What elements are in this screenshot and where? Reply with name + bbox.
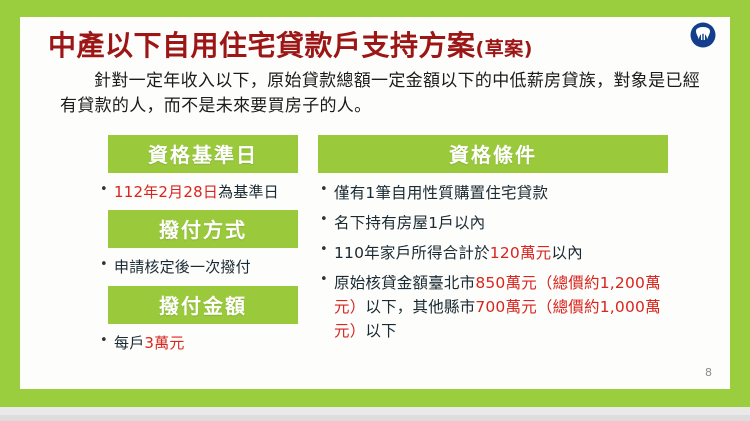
section-header: 撥付金額 xyxy=(108,286,298,324)
slide-frame: 中產以下自用住宅貸款戶支持方案(草案) 針對一定年收入以下，原始貸款總額一定金額… xyxy=(0,0,750,407)
list-item: 僅有1筆自用性質購置住宅貸款 xyxy=(318,181,668,205)
section-header: 撥付方式 xyxy=(108,210,298,248)
intro-paragraph: 針對一定年收入以下，原始貸款總額一定金額以下的中低薪房貸族，對象是已經有貸款的人… xyxy=(60,69,700,118)
list-item: 名下持有房屋1戶以內 xyxy=(318,211,668,235)
list-item: 110年家戶所得合計於120萬元以內 xyxy=(318,241,668,265)
list-item-text: 名下持有房屋1戶以內 xyxy=(334,214,485,232)
list-item-text: 120萬元 xyxy=(490,244,552,262)
bullet-list: 每戶3萬元 xyxy=(98,332,308,355)
slide-content-area: 中產以下自用住宅貸款戶支持方案(草案) 針對一定年收入以下，原始貸款總額一定金額… xyxy=(20,17,730,389)
list-item: 112年2月28日為基準日 xyxy=(98,181,308,204)
list-item-text: 為基準日 xyxy=(218,183,279,201)
list-item-text: 以內 xyxy=(551,244,582,262)
list-item-text: 以下 xyxy=(365,322,396,340)
list-item-text: 申請核定後一次撥付 xyxy=(114,258,251,276)
bullet-list: 僅有1筆自用性質購置住宅貸款名下持有房屋1戶以內110年家戶所得合計於120萬元… xyxy=(318,181,668,343)
page-number: 8 xyxy=(705,366,712,379)
bottom-band-lower xyxy=(0,415,750,421)
right-column: 資格條件僅有1筆自用性質購置住宅貸款名下持有房屋1戶以內110年家戶所得合計於1… xyxy=(318,135,668,349)
list-item-text: 原始核貸金額臺北市 xyxy=(334,274,475,292)
bullet-list: 申請核定後一次撥付 xyxy=(98,256,308,279)
list-item-text: 110年家戶所得合計於 xyxy=(334,244,490,262)
list-item-text: 每戶 xyxy=(114,334,144,352)
left-column: 資格基準日112年2月28日為基準日撥付方式申請核定後一次撥付撥付金額每戶3萬元 xyxy=(98,135,308,361)
list-item-text: 以下，其他縣市 xyxy=(365,298,475,316)
list-item-text: 112年2月28日 xyxy=(114,183,218,201)
page-title-suffix: (草案) xyxy=(476,38,533,60)
executive-yuan-logo-icon xyxy=(690,22,716,48)
page-title-main: 中產以下自用住宅貸款戶支持方案 xyxy=(48,29,476,62)
list-item-text: 僅有1筆自用性質購置住宅貸款 xyxy=(334,184,548,202)
list-item: 申請核定後一次撥付 xyxy=(98,256,308,279)
section-header: 資格條件 xyxy=(318,135,668,173)
section-header: 資格基準日 xyxy=(108,135,298,173)
list-item: 原始核貸金額臺北市850萬元（總價約1,200萬元）以下，其他縣市700萬元（總… xyxy=(318,271,668,343)
list-item: 每戶3萬元 xyxy=(98,332,308,355)
page-title: 中產以下自用住宅貸款戶支持方案(草案) xyxy=(48,31,688,62)
bullet-list: 112年2月28日為基準日 xyxy=(98,181,308,204)
list-item-text: 3萬元 xyxy=(144,334,184,352)
